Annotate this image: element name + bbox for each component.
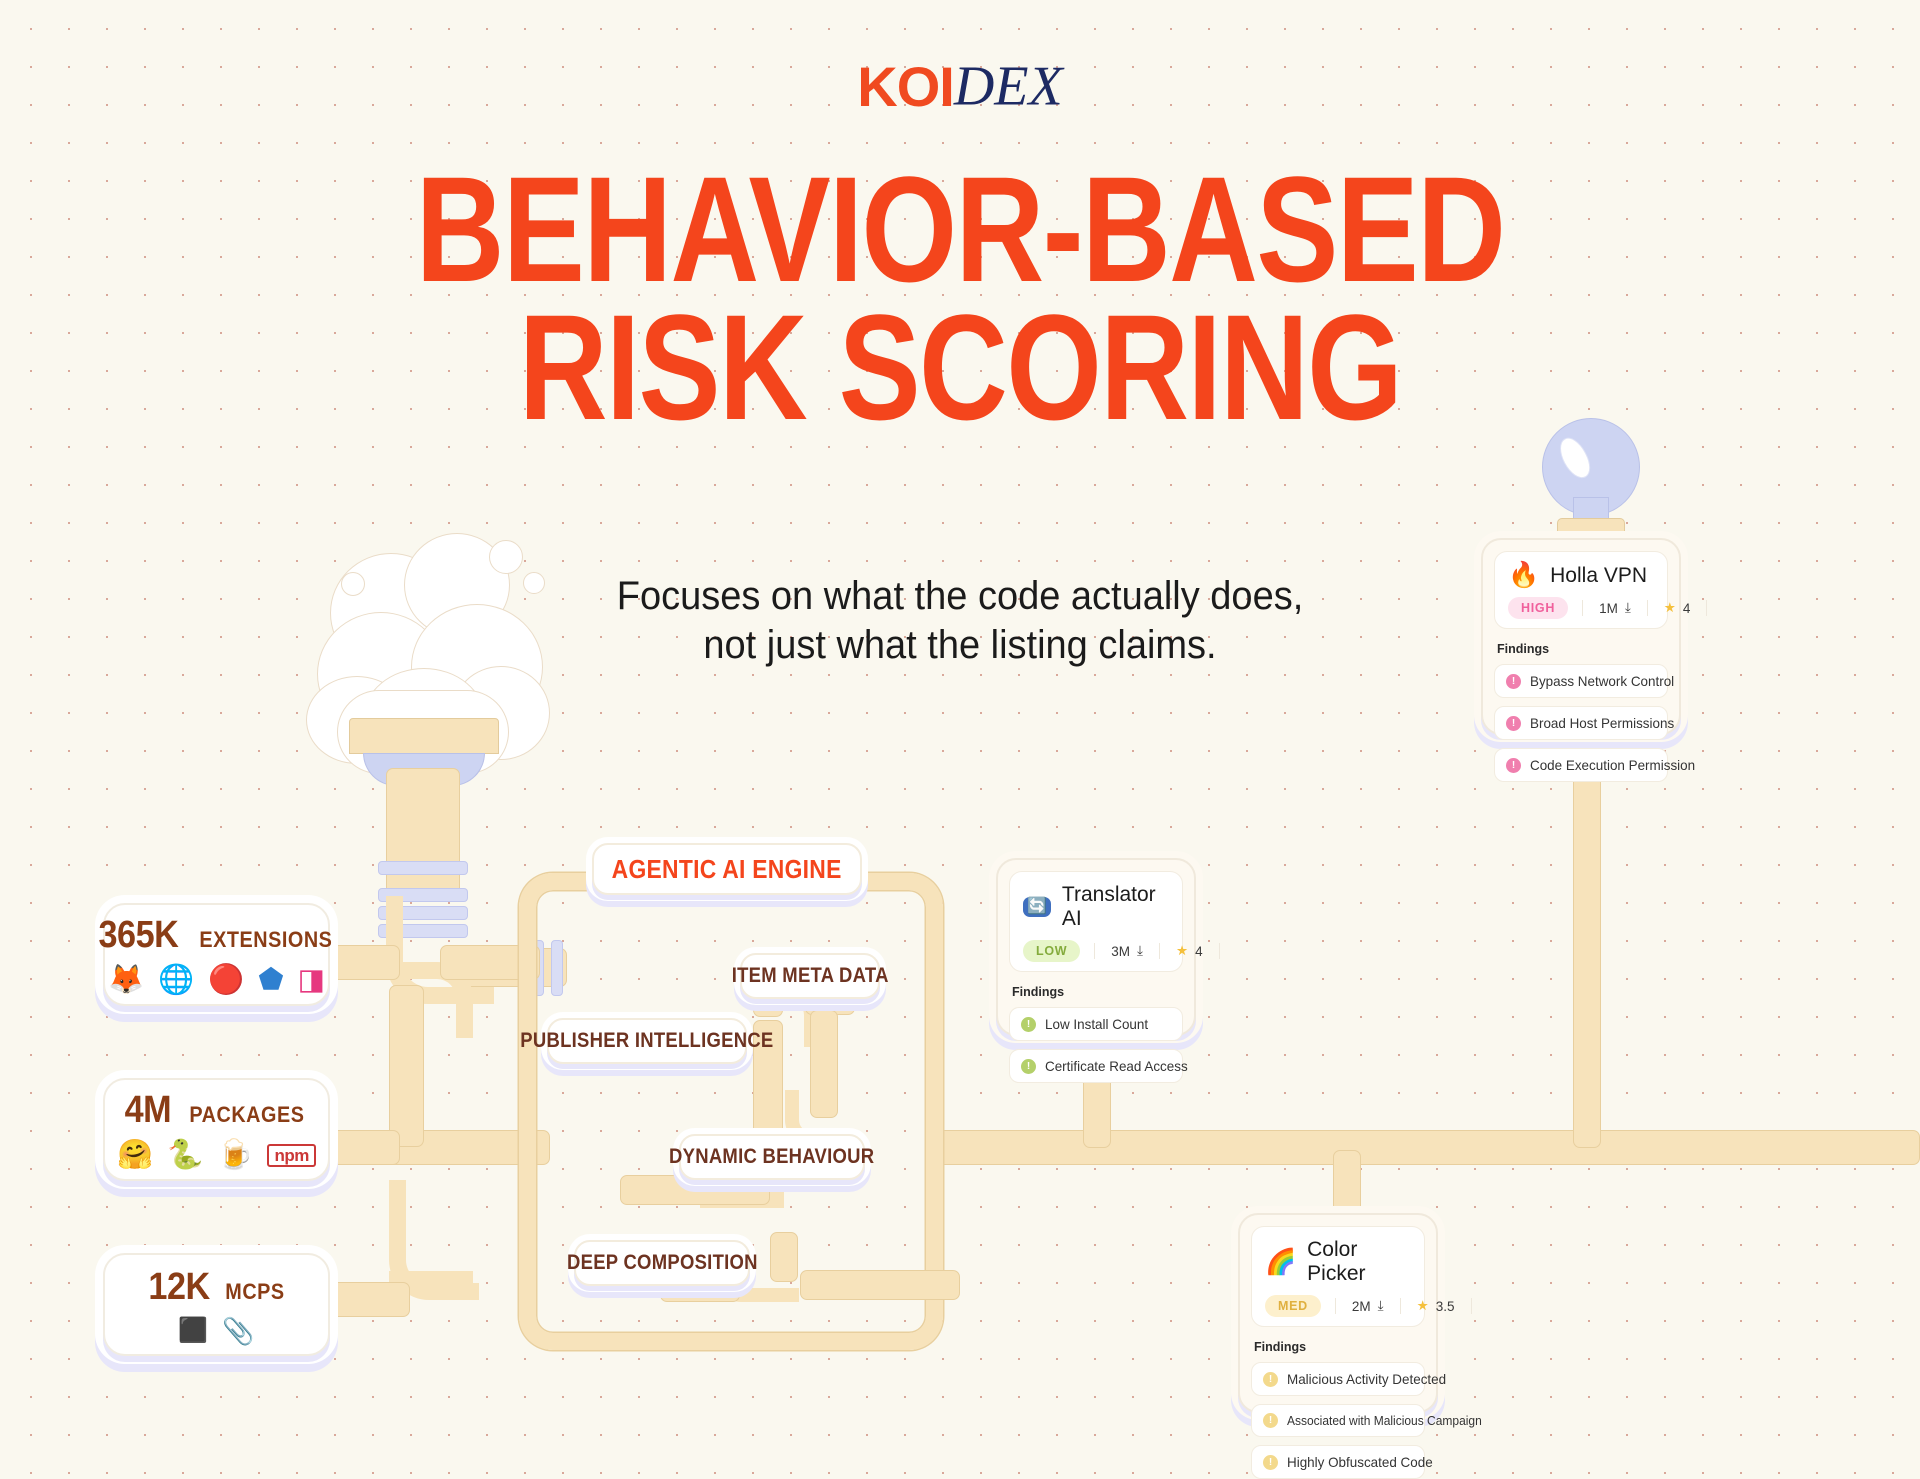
findings-label: Findings bbox=[1012, 985, 1183, 999]
severity-dot-icon: ! bbox=[1263, 1455, 1278, 1470]
severity-dot-icon: ! bbox=[1506, 674, 1521, 689]
install-value: 2M bbox=[1352, 1299, 1371, 1314]
rating-value: 4 bbox=[1683, 601, 1691, 616]
cube-icon: ⬛ bbox=[178, 1319, 208, 1343]
card-header: 🌈 Color Picker MED 2M ⤓ ★ 3.5 bbox=[1251, 1226, 1425, 1327]
source-count-row: 12K MCPS bbox=[145, 1266, 288, 1309]
jetbrains-icon: ◨ bbox=[298, 966, 325, 995]
card-header: 🔄 Translator AI LOW 3M ⤓ ★ 4 bbox=[1009, 871, 1183, 972]
stage-label: DEEP COMPOSITION bbox=[567, 1251, 758, 1275]
card-title-row: 🌈 Color Picker bbox=[1265, 1238, 1411, 1286]
risk-badge: HIGH bbox=[1508, 597, 1568, 619]
clip-icon: 📎 bbox=[222, 1318, 254, 1344]
source-unit: PACKAGES bbox=[189, 1102, 304, 1128]
npm-icon: npm bbox=[267, 1144, 315, 1167]
source-box-packages[interactable]: 4M PACKAGES 🤗 🐍 🍺 npm bbox=[103, 1078, 330, 1181]
stage-label: DYNAMIC BEHAVIOUR bbox=[669, 1145, 874, 1169]
finding-text: Associated with Malicious Campaign bbox=[1287, 1414, 1482, 1428]
source-box-mcps[interactable]: 12K MCPS ⬛ 📎 bbox=[103, 1253, 330, 1356]
finding-text: Malicious Activity Detected bbox=[1287, 1371, 1446, 1387]
install-value: 1M bbox=[1599, 601, 1618, 616]
result-card-color-picker[interactable]: 🌈 Color Picker MED 2M ⤓ ★ 3.5 Findings !… bbox=[1238, 1213, 1438, 1413]
result-card-holla-vpn[interactable]: 🔥 Holla VPN HIGH 1M ⤓ ★ 4 Findings ! Byp… bbox=[1481, 538, 1681, 735]
rating-value: 3.5 bbox=[1436, 1299, 1455, 1314]
findings-label: Findings bbox=[1254, 1340, 1425, 1354]
stage-chip-dynamic-behaviour[interactable]: DYNAMIC BEHAVIOUR bbox=[679, 1134, 865, 1180]
download-icon: ⤓ bbox=[1137, 943, 1143, 959]
chrome-icon: 🔴 bbox=[208, 966, 244, 995]
finding-text: Certificate Read Access bbox=[1045, 1058, 1188, 1074]
engine-title-label: AGENTIC AI ENGINE bbox=[612, 854, 842, 885]
source-icon-row: ⬛ 📎 bbox=[178, 1318, 254, 1344]
rating-value: 4 bbox=[1195, 944, 1203, 959]
stage-chip-deep-composition[interactable]: DEEP COMPOSITION bbox=[574, 1240, 750, 1286]
source-count: 12K bbox=[148, 1266, 209, 1309]
page-title: BEHAVIOR-BASED RISK SCORING bbox=[0, 160, 1920, 436]
download-icon: ⤓ bbox=[1378, 1298, 1384, 1314]
source-icon-row: 🤗 🐍 🍺 npm bbox=[117, 1141, 316, 1170]
source-unit: EXTENSIONS bbox=[199, 927, 332, 953]
infographic-canvas: KOIDEX BEHAVIOR-BASED RISK SCORING Focus… bbox=[0, 0, 1920, 1440]
stage-label: ITEM META DATA bbox=[732, 964, 889, 988]
finding-text: Low Install Count bbox=[1045, 1016, 1148, 1032]
source-count-row: 4M PACKAGES bbox=[122, 1089, 311, 1132]
card-meta-row: MED 2M ⤓ ★ 3.5 bbox=[1265, 1295, 1411, 1317]
finding-text: Broad Host Permissions bbox=[1530, 715, 1674, 731]
edge-icon: 🌐 bbox=[158, 966, 194, 995]
app-name: Translator AI bbox=[1062, 883, 1169, 931]
result-card-translator-ai[interactable]: 🔄 Translator AI LOW 3M ⤓ ★ 4 Findings ! … bbox=[996, 858, 1196, 1036]
install-count: 3M ⤓ bbox=[1094, 943, 1159, 959]
severity-dot-icon: ! bbox=[1263, 1413, 1278, 1428]
finding-item[interactable]: ! Code Execution Permission bbox=[1494, 748, 1668, 782]
homebrew-icon: 🍺 bbox=[217, 1141, 253, 1170]
card-meta-row: HIGH 1M ⤓ ★ 4 bbox=[1508, 597, 1654, 619]
cloud-bubble bbox=[489, 540, 523, 574]
engine-outlet-pipe bbox=[800, 1270, 960, 1300]
brand-logo: KOIDEX bbox=[0, 54, 1920, 119]
app-name: Holla VPN bbox=[1550, 564, 1647, 588]
star-icon: ★ bbox=[1176, 943, 1188, 959]
firefox-icon: 🦊 bbox=[108, 966, 144, 995]
source-box-extensions[interactable]: 365K EXTENSIONS 🦊 🌐 🔴 ⬟ ◨ bbox=[103, 903, 330, 1006]
pipe-ring bbox=[378, 861, 468, 875]
source-unit: MCPS bbox=[225, 1279, 284, 1305]
card-meta-row: LOW 3M ⤓ ★ 4 bbox=[1023, 940, 1169, 962]
finding-item[interactable]: ! Broad Host Permissions bbox=[1494, 706, 1668, 740]
source-icon-row: 🦊 🌐 🔴 ⬟ ◨ bbox=[108, 966, 325, 995]
finding-text: Highly Obfuscated Code bbox=[1287, 1454, 1433, 1470]
source-count-row: 365K EXTENSIONS bbox=[94, 914, 340, 957]
card-header: 🔥 Holla VPN HIGH 1M ⤓ ★ 4 bbox=[1494, 551, 1668, 629]
finding-item[interactable]: ! Bypass Network Control bbox=[1494, 664, 1668, 698]
card-title-row: 🔄 Translator AI bbox=[1023, 883, 1169, 931]
install-value: 3M bbox=[1111, 944, 1130, 959]
download-icon: ⤓ bbox=[1625, 600, 1631, 616]
card-title-row: 🔥 Holla VPN bbox=[1508, 563, 1654, 588]
huggingface-icon: 🤗 bbox=[117, 1141, 153, 1170]
findings-label: Findings bbox=[1497, 642, 1668, 656]
finding-item[interactable]: ! Associated with Malicious Campaign bbox=[1251, 1404, 1425, 1437]
logo-dex: DEX bbox=[954, 56, 1063, 118]
finding-text: Bypass Network Control bbox=[1530, 673, 1674, 689]
source-count: 365K bbox=[98, 914, 178, 957]
star-icon: ★ bbox=[1417, 1298, 1429, 1314]
translate-icon: 🔄 bbox=[1023, 897, 1051, 917]
logo-koi: KOI bbox=[857, 55, 954, 118]
severity-dot-icon: ! bbox=[1506, 758, 1521, 773]
fire-icon: 🔥 bbox=[1508, 563, 1539, 588]
cloud-bubble bbox=[523, 572, 545, 594]
stage-label: PUBLISHER INTELLIGENCE bbox=[520, 1029, 773, 1053]
source-count: 4M bbox=[125, 1089, 172, 1132]
app-name: Color Picker bbox=[1307, 1238, 1411, 1286]
headline-line-1: BEHAVIOR-BASED bbox=[173, 160, 1747, 298]
install-count: 2M ⤓ bbox=[1335, 1298, 1400, 1314]
risk-badge: LOW bbox=[1023, 940, 1080, 962]
finding-item[interactable]: ! Low Install Count bbox=[1009, 1007, 1183, 1041]
python-icon: 🐍 bbox=[167, 1141, 203, 1170]
risk-badge: MED bbox=[1265, 1295, 1321, 1317]
cloud-bubble bbox=[341, 572, 365, 596]
headline-line-2: RISK SCORING bbox=[173, 298, 1747, 436]
engine-title-chip[interactable]: AGENTIC AI ENGINE bbox=[592, 843, 862, 895]
finding-item[interactable]: ! Malicious Activity Detected bbox=[1251, 1362, 1425, 1396]
pipe-trunk-right bbox=[930, 1130, 1920, 1165]
finding-item[interactable]: ! Highly Obfuscated Code bbox=[1251, 1445, 1425, 1479]
severity-dot-icon: ! bbox=[1021, 1017, 1036, 1032]
rainbow-icon: 🌈 bbox=[1265, 1250, 1296, 1275]
stack-pipe bbox=[386, 768, 460, 898]
rating: ★ 3.5 bbox=[1400, 1298, 1472, 1314]
rating: ★ 4 bbox=[1647, 600, 1708, 616]
rating: ★ 4 bbox=[1159, 943, 1220, 959]
finding-text: Code Execution Permission bbox=[1530, 757, 1695, 773]
stage-chip-item-meta-data[interactable]: ITEM META DATA bbox=[740, 953, 880, 999]
severity-dot-icon: ! bbox=[1506, 716, 1521, 731]
vscode-icon: ⬟ bbox=[258, 966, 283, 995]
stage-chip-publisher-intelligence[interactable]: PUBLISHER INTELLIGENCE bbox=[547, 1018, 747, 1064]
severity-dot-icon: ! bbox=[1021, 1059, 1036, 1074]
star-icon: ★ bbox=[1664, 600, 1676, 616]
severity-dot-icon: ! bbox=[1263, 1372, 1278, 1387]
finding-item[interactable]: ! Certificate Read Access bbox=[1009, 1049, 1183, 1083]
install-count: 1M ⤓ bbox=[1582, 600, 1647, 616]
